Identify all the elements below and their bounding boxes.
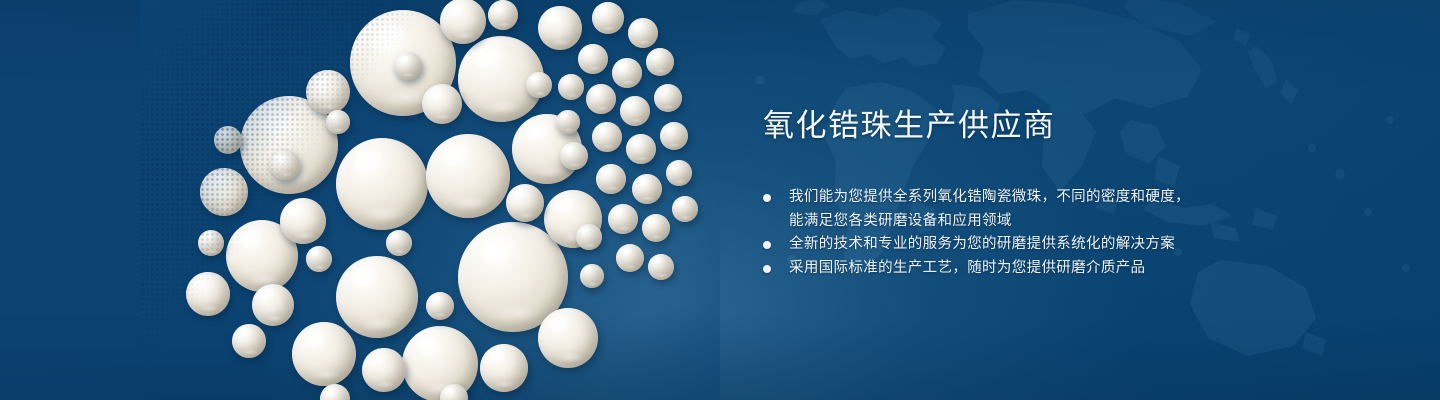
list-item-line1: 全新的技术和专业的服务为您的研磨提供系统化的解决方案 <box>789 236 1175 252</box>
list-item-line1: 采用国际标准的生产工艺，随时为您提供研磨介质产品 <box>789 260 1145 276</box>
list-item: 采用国际标准的生产工艺，随时为您提供研磨介质产品 <box>763 257 1283 281</box>
banner-copy: 氧化锆珠生产供应商 我们能为您提供全系列氧化锆陶瓷微珠，不同的密度和硬度， 能满… <box>763 106 1283 280</box>
bullet-dot-icon <box>763 241 771 249</box>
list-item-line2: 能满足您各类研磨设备和应用领域 <box>789 210 1283 234</box>
zirconia-beads-image <box>140 0 720 400</box>
bullet-dot-icon <box>763 194 771 202</box>
hero-banner: 氧化锆珠生产供应商 我们能为您提供全系列氧化锆陶瓷微珠，不同的密度和硬度， 能满… <box>0 0 1440 400</box>
bullet-dot-icon <box>763 265 771 273</box>
list-item: 全新的技术和专业的服务为您的研磨提供系统化的解决方案 <box>763 233 1283 257</box>
feature-list: 我们能为您提供全系列氧化锆陶瓷微珠，不同的密度和硬度， 能满足您各类研磨设备和应… <box>763 186 1283 280</box>
list-item: 我们能为您提供全系列氧化锆陶瓷微珠，不同的密度和硬度， 能满足您各类研磨设备和应… <box>763 186 1283 233</box>
page-title: 氧化锆珠生产供应商 <box>763 106 1283 146</box>
beads-cluster <box>140 0 720 400</box>
list-item-line1: 我们能为您提供全系列氧化锆陶瓷微珠，不同的密度和硬度， <box>789 189 1190 205</box>
